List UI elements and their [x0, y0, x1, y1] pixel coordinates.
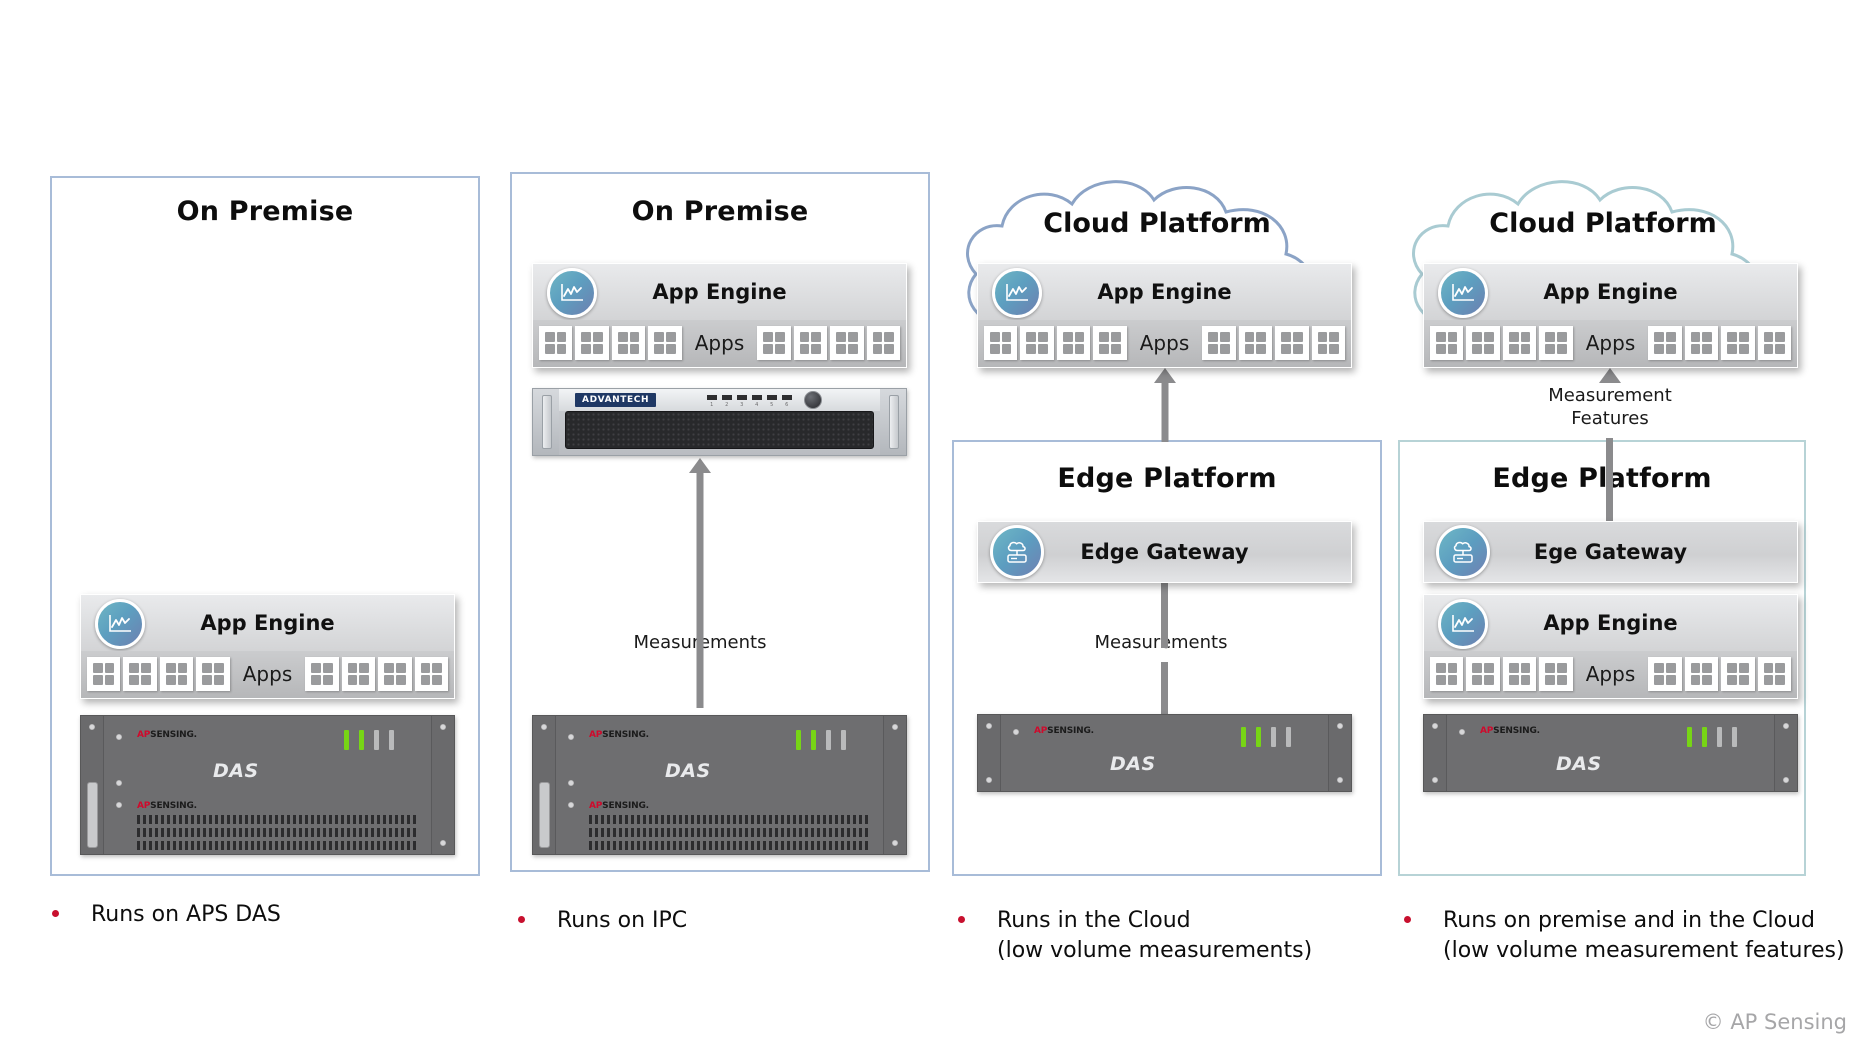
- measurement-features-line-col4: [1606, 438, 1613, 521]
- chart-line-icon: [95, 599, 145, 649]
- app-tile[interactable]: [1057, 326, 1090, 360]
- chart-line-icon: [1438, 268, 1488, 318]
- app-tile[interactable]: [1312, 326, 1345, 360]
- rack-ear-right: [431, 716, 454, 854]
- bullet-col2: Runs on IPC: [518, 906, 918, 936]
- app-tile[interactable]: [1239, 326, 1272, 360]
- bullet-text-col2: Runs on IPC: [557, 906, 687, 936]
- diagram-canvas: On Premise App Engine Apps: [0, 0, 1875, 1052]
- apps-label-cloud-col4: Apps: [1576, 331, 1646, 355]
- app-engine-apps-row-cloud-col4: Apps: [1424, 320, 1797, 367]
- app-tile[interactable]: [794, 326, 827, 360]
- bullet-text-col3: Runs in the Cloud (low volume measuremen…: [997, 906, 1312, 965]
- bullet-col4: Runs on premise and in the Cloud (low vo…: [1404, 906, 1854, 965]
- apps-label-col1: Apps: [233, 662, 303, 686]
- app-tile[interactable]: [1685, 657, 1718, 691]
- app-tile[interactable]: [123, 657, 156, 691]
- app-tile[interactable]: [648, 326, 681, 360]
- bullet-text-col1: Runs on APS DAS: [91, 900, 281, 930]
- app-tile[interactable]: [415, 657, 448, 691]
- ipc-led-labels: 123456: [707, 402, 792, 408]
- app-tile[interactable]: [757, 326, 790, 360]
- app-tile[interactable]: [1539, 657, 1572, 691]
- app-tile[interactable]: [1539, 326, 1572, 360]
- app-engine-header-cloud-col4: App Engine: [1424, 264, 1797, 320]
- das-device-col2[interactable]: APSENSING. DAS APSENSING.: [532, 715, 907, 855]
- app-engine-apps-row-edge-col4: Apps: [1424, 651, 1797, 698]
- panel-title-col4: Edge Platform: [1398, 463, 1806, 494]
- panel-col3: [952, 440, 1382, 876]
- ipc-front-panel: ADVANTECH 123456: [559, 389, 880, 455]
- app-tile[interactable]: [160, 657, 193, 691]
- app-tile[interactable]: [1093, 326, 1126, 360]
- app-engine-card-col1[interactable]: App Engine Apps: [80, 594, 455, 699]
- app-tile[interactable]: [1721, 657, 1754, 691]
- app-tile[interactable]: [1020, 326, 1053, 360]
- measurement-features-label-col4: Measurement Features: [1490, 385, 1730, 430]
- copyright-notice: © AP Sensing: [1703, 1010, 1847, 1034]
- das-label-col2: DAS: [665, 760, 711, 782]
- apps-label-col3: Apps: [1130, 331, 1200, 355]
- power-button-icon[interactable]: [804, 391, 822, 409]
- app-tile[interactable]: [378, 657, 411, 691]
- das-label-col3: DAS: [1110, 753, 1156, 775]
- das-device-col4[interactable]: APSENSING. DAS: [1423, 714, 1798, 792]
- apps-label-col2: Apps: [685, 331, 755, 355]
- advantech-logo: ADVANTECH: [575, 393, 656, 407]
- app-tile[interactable]: [1466, 326, 1499, 360]
- app-tile[interactable]: [87, 657, 120, 691]
- app-tile[interactable]: [612, 326, 645, 360]
- app-tile[interactable]: [1466, 657, 1499, 691]
- led-indicators: [1241, 727, 1291, 747]
- app-tile[interactable]: [575, 326, 608, 360]
- ap-sensing-logo-lower: APSENSING.: [137, 801, 197, 811]
- app-tile[interactable]: [1758, 326, 1791, 360]
- ipc-server-col2[interactable]: ADVANTECH 123456: [532, 388, 907, 456]
- app-engine-card-col3[interactable]: App Engine Apps: [977, 263, 1352, 368]
- app-tile[interactable]: [1202, 326, 1235, 360]
- app-tile[interactable]: [1275, 326, 1308, 360]
- app-tile[interactable]: [196, 657, 229, 691]
- app-tile[interactable]: [830, 326, 863, 360]
- app-tile[interactable]: [1503, 326, 1536, 360]
- app-tile[interactable]: [1685, 326, 1718, 360]
- led-indicators: [796, 730, 846, 750]
- app-engine-header-edge-col4: App Engine: [1424, 595, 1797, 651]
- edge-gateway-title-col3: Edge Gateway: [978, 540, 1351, 564]
- app-tile[interactable]: [1430, 657, 1463, 691]
- rack-ear-right: [880, 389, 906, 455]
- cloud-title-col4: Cloud Platform: [1398, 208, 1808, 239]
- measurements-line2-col3: [1161, 662, 1168, 714]
- chart-line-icon: [992, 268, 1042, 318]
- panel-title-col1: On Premise: [50, 196, 480, 227]
- app-engine-apps-row-col2: Apps: [533, 320, 906, 367]
- chart-line-icon: [547, 268, 597, 318]
- app-tile[interactable]: [305, 657, 338, 691]
- rack-ear-right: [883, 716, 906, 854]
- app-tile[interactable]: [1758, 657, 1791, 691]
- das-label-col4: DAS: [1556, 753, 1602, 775]
- app-tile[interactable]: [984, 326, 1017, 360]
- bullet-text-col4: Runs on premise and in the Cloud (low vo…: [1443, 906, 1845, 965]
- app-tile[interactable]: [1648, 326, 1681, 360]
- led-indicators: [1687, 727, 1737, 747]
- app-tile[interactable]: [1721, 326, 1754, 360]
- vent-grille: [137, 815, 416, 850]
- das-label-col1: DAS: [213, 760, 259, 782]
- rack-handle: [87, 782, 98, 848]
- bullet-col3: Runs in the Cloud (low volume measuremen…: [958, 906, 1378, 965]
- app-engine-apps-row-col1: Apps: [81, 651, 454, 698]
- bullet-dot-icon: [1404, 916, 1411, 923]
- measurements-arrow-col2: [680, 458, 720, 708]
- panel-title-col3: Edge Platform: [952, 463, 1382, 494]
- rack-handle: [539, 782, 550, 848]
- app-engine-cloud-card-col4[interactable]: App Engine Apps: [1423, 263, 1798, 368]
- das-device-col3[interactable]: APSENSING. DAS: [977, 714, 1352, 792]
- rack-ear-left: [533, 389, 559, 455]
- panel-title-col2: On Premise: [510, 196, 930, 227]
- cloud-title-col3: Cloud Platform: [952, 208, 1362, 239]
- app-engine-edge-card-col4[interactable]: App Engine Apps: [1423, 594, 1798, 699]
- app-tile[interactable]: [1503, 657, 1536, 691]
- edge-gateway-card-col3[interactable]: Edge Gateway: [977, 521, 1352, 583]
- app-tile[interactable]: [539, 326, 572, 360]
- app-engine-header-col2: App Engine: [533, 264, 906, 320]
- ap-sensing-logo: APSENSING.: [1034, 726, 1094, 736]
- das-device-col1[interactable]: APSENSING. DAS APSENSING.: [80, 715, 455, 855]
- bullet-dot-icon: [52, 910, 59, 917]
- bullet-dot-icon: [958, 916, 965, 923]
- ap-sensing-logo: APSENSING.: [137, 730, 197, 740]
- ap-sensing-logo: APSENSING.: [589, 730, 649, 740]
- ap-sensing-logo-lower: APSENSING.: [589, 801, 649, 811]
- ipc-mesh-grille: [565, 411, 874, 449]
- app-tile[interactable]: [867, 326, 900, 360]
- measurement-features-arrow-col4: [1590, 368, 1630, 388]
- ap-sensing-logo: APSENSING.: [1480, 726, 1540, 736]
- app-engine-apps-row-col3: Apps: [978, 320, 1351, 367]
- app-engine-card-col2[interactable]: App Engine Apps: [532, 263, 907, 368]
- edge-to-cloud-arrow-col3: [1145, 368, 1185, 442]
- edge-gateway-title-col4: Ege Gateway: [1424, 540, 1797, 564]
- led-indicators: [344, 730, 394, 750]
- app-tile[interactable]: [342, 657, 375, 691]
- app-engine-header-col1: App Engine: [81, 595, 454, 651]
- apps-label-edge-col4: Apps: [1576, 662, 1646, 686]
- bullet-col1: Runs on APS DAS: [52, 900, 452, 930]
- ipc-led-indicators: [707, 395, 792, 400]
- edge-gateway-card-col4[interactable]: Ege Gateway: [1423, 521, 1798, 583]
- vent-grille: [589, 815, 868, 850]
- bullet-dot-icon: [518, 916, 525, 923]
- app-engine-header-col3: App Engine: [978, 264, 1351, 320]
- app-tile[interactable]: [1430, 326, 1463, 360]
- measurements-line-col3: [1161, 583, 1168, 648]
- chart-line-icon: [1438, 599, 1488, 649]
- app-tile[interactable]: [1648, 657, 1681, 691]
